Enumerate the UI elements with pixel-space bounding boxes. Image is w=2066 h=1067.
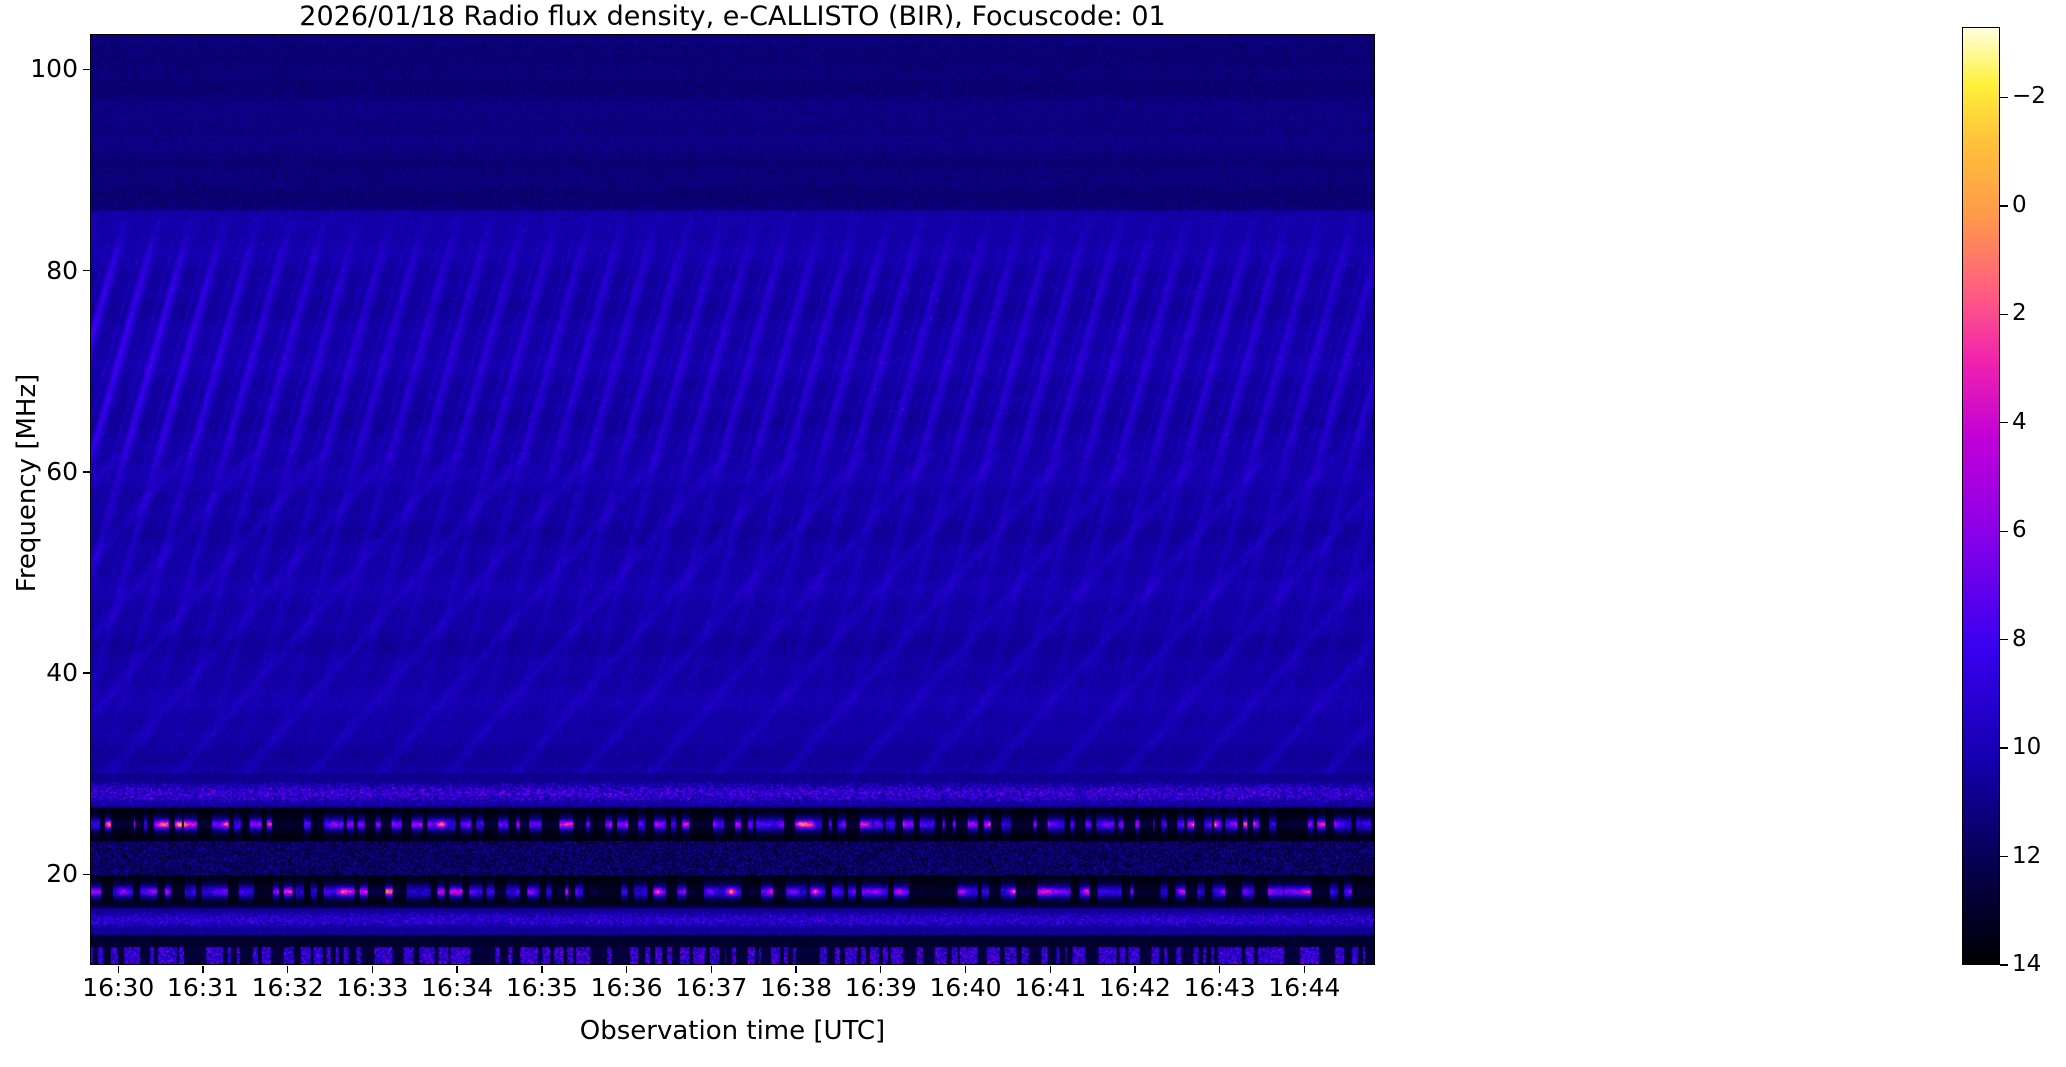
colorbar-tick-mark <box>2000 422 2008 423</box>
colorbar-tick-mark <box>2000 747 2008 748</box>
colorbar-tick-mark <box>2000 314 2008 315</box>
x-axis-label: Observation time [UTC] <box>90 1018 1375 1044</box>
colorbar-tick-label: 2 <box>2012 302 2066 325</box>
x-tick-mark <box>1304 966 1305 973</box>
x-tick-mark <box>118 966 119 973</box>
colorbar <box>1962 27 2000 965</box>
colorbar-tick-label: 14 <box>2012 953 2066 976</box>
colorbar-tick-mark <box>2000 531 2008 532</box>
colorbar-tick-mark <box>2000 97 2008 98</box>
spectrogram-plot-area <box>90 34 1375 965</box>
colorbar-tick-mark <box>2000 639 2008 640</box>
x-tick-mark <box>202 966 203 973</box>
x-tick-mark <box>541 966 542 973</box>
colorbar-tick-mark <box>2000 856 2008 857</box>
y-tick-mark <box>83 69 90 70</box>
colorbar-tick-label: 12 <box>2012 845 2066 868</box>
x-tick-label: 16:44 <box>1214 975 1394 1000</box>
colorbar-tick-mark <box>2000 205 2008 206</box>
x-tick-mark <box>711 966 712 973</box>
colorbar-tick-label: 10 <box>2012 736 2066 759</box>
x-tick-mark <box>287 966 288 973</box>
x-tick-mark <box>1050 966 1051 973</box>
page-title: 2026/01/18 Radio flux density, e-CALLIST… <box>90 2 1375 32</box>
spectrogram-figure: 2026/01/18 Radio flux density, e-CALLIST… <box>0 0 2066 1067</box>
x-tick-mark <box>626 966 627 973</box>
colorbar-tick-label: −2 <box>2012 85 2066 108</box>
x-tick-mark <box>1134 966 1135 973</box>
colorbar-tick-label: 4 <box>2012 411 2066 434</box>
y-tick-mark <box>83 672 90 673</box>
y-tick-mark <box>83 471 90 472</box>
spectrogram-image <box>91 35 1374 964</box>
colorbar-tick-label: 8 <box>2012 628 2066 651</box>
colorbar-tick-label: 0 <box>2012 194 2066 217</box>
x-tick-mark <box>1219 966 1220 973</box>
x-tick-mark <box>965 966 966 973</box>
colorbar-tick-mark <box>2000 964 2008 965</box>
x-tick-mark <box>372 966 373 973</box>
x-tick-mark <box>880 966 881 973</box>
y-tick-mark <box>83 270 90 271</box>
y-axis-label: Frequency [MHz] <box>14 233 40 733</box>
y-tick-mark <box>83 874 90 875</box>
colorbar-tick-label: 6 <box>2012 519 2066 542</box>
colorbar-gradient <box>1963 28 1999 964</box>
y-tick-label: 100 <box>0 56 78 81</box>
x-tick-mark <box>456 966 457 973</box>
x-tick-mark <box>795 966 796 973</box>
y-tick-label: 20 <box>0 861 78 886</box>
